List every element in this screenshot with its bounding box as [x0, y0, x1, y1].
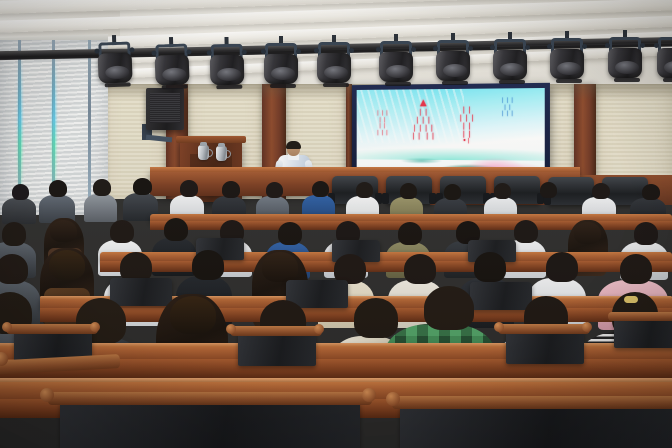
stage-light: [95, 41, 135, 88]
chair-back[interactable]: [506, 330, 584, 364]
stage-light: [655, 37, 672, 83]
stage-light: [434, 40, 472, 86]
screen-glare: [357, 88, 545, 175]
stage-light: [548, 38, 586, 84]
chair-knob: [90, 322, 100, 332]
stage-light: [491, 39, 529, 85]
presentation-screen[interactable]: ❘❘❘ ❘❘ ❘❘ ❘❘❘ ▲ ❘❘ ❘❘❘ ❘❘❘❘ ❘❘ ❘❘ ❘❘ ❘❘❘…: [352, 83, 550, 180]
chair-rail: [498, 324, 590, 334]
podium-top: [176, 136, 246, 143]
chair-knob: [226, 324, 236, 334]
lecture-hall-photo: ❘❘❘ ❘❘ ❘❘ ❘❘❘ ▲ ❘❘ ❘❘❘ ❘❘❘❘ ❘❘ ❘❘ ❘❘ ❘❘❘…: [0, 0, 672, 448]
speaker-mesh: [150, 93, 180, 123]
chair-knob: [386, 392, 400, 406]
chair-back[interactable]: [400, 404, 672, 448]
chair-rail: [392, 396, 672, 409]
chair-knob: [2, 322, 12, 332]
chair-back[interactable]: [614, 318, 672, 348]
stage-light: [208, 44, 247, 91]
chair-knob: [582, 322, 592, 332]
stage-light: [315, 42, 353, 88]
stage-light: [377, 41, 415, 87]
dais-desk-top: [150, 167, 580, 172]
chair-knob: [362, 388, 376, 402]
stage-light: [262, 43, 300, 89]
chair-rail: [6, 324, 98, 334]
chair-knob: [40, 388, 54, 402]
chair-rail: [608, 312, 672, 321]
thermos-flask: [198, 145, 209, 160]
presenter-hair: [286, 141, 301, 149]
screen-surface: ❘❘❘ ❘❘ ❘❘ ❘❘❘ ▲ ❘❘ ❘❘❘ ❘❘❘❘ ❘❘ ❘❘ ❘❘ ❘❘❘…: [357, 88, 545, 175]
chair-back[interactable]: [238, 332, 316, 366]
chair-knob: [494, 322, 504, 332]
chair-rail: [48, 392, 372, 405]
chair-knob: [314, 324, 324, 334]
stage-light: [152, 43, 192, 90]
chair-rail: [230, 326, 322, 336]
thermos-flask: [216, 146, 227, 161]
chair-back[interactable]: [60, 400, 360, 448]
stage-light: [606, 37, 644, 83]
wall-speaker: [146, 88, 184, 130]
